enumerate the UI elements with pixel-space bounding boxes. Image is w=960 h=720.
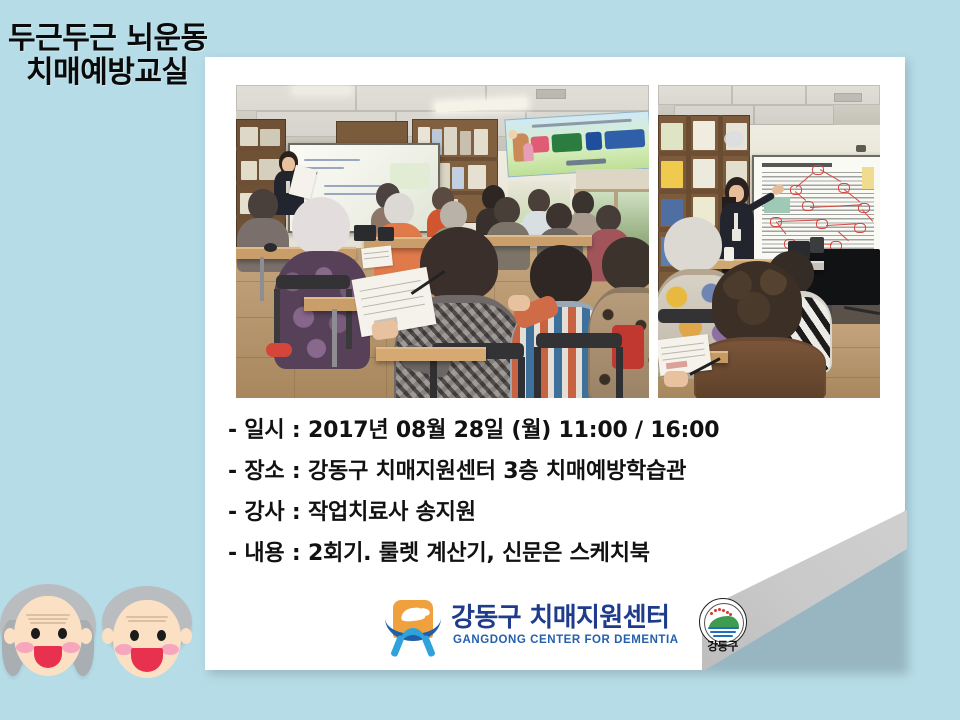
elderly-woman-face-icon — [0, 584, 96, 688]
footer-branding: 강동구 치매지원센터 GANGDONG CENTER FOR DEMENTIA … — [385, 598, 749, 654]
logo-wordmark: 강동구 치매지원센터 GANGDONG CENTER FOR DEMENTIA — [451, 605, 679, 647]
seal-red-dots — [710, 608, 732, 616]
page-title-line-1: 두근두근 뇌운동 — [8, 24, 208, 55]
gangdong-district-seal-icon: 강동구 — [697, 598, 749, 654]
page-title-line-2: 치매예방교실 — [26, 58, 208, 89]
photo-gallery — [236, 85, 881, 398]
newspaper-sketchbook-photo — [658, 85, 880, 398]
logo-name-korean: 강동구 치매지원센터 — [451, 605, 679, 631]
seal-label: 강동구 — [697, 638, 749, 654]
event-detail-instructor: - 강사 : 작업치료사 송지원 — [228, 494, 888, 526]
event-detail-datetime: - 일시 : 2017년 08월 28일 (월) 11:00 / 16:00 — [228, 412, 888, 444]
logo-name-english: GANGDONG CENTER FOR DEMENTIA — [453, 635, 679, 647]
elderly-mascot-group — [0, 578, 196, 698]
event-detail-content: - 내용 : 2회기. 룰렛 계산기, 신문은 스케치북 — [228, 535, 888, 567]
event-details: - 일시 : 2017년 08월 28일 (월) 11:00 / 16:00 -… — [228, 412, 888, 576]
dove-person-logo-icon — [385, 600, 441, 652]
page-title: 두근두근 뇌운동 치매예방교실 — [8, 24, 208, 88]
slide-background: 두근두근 뇌운동 치매예방교실 — [0, 0, 960, 720]
event-detail-location: - 장소 : 강동구 치매지원센터 3층 치매예방학습관 — [228, 453, 888, 485]
classroom-lecture-photo — [236, 85, 649, 398]
elderly-man-face-icon — [100, 586, 194, 688]
